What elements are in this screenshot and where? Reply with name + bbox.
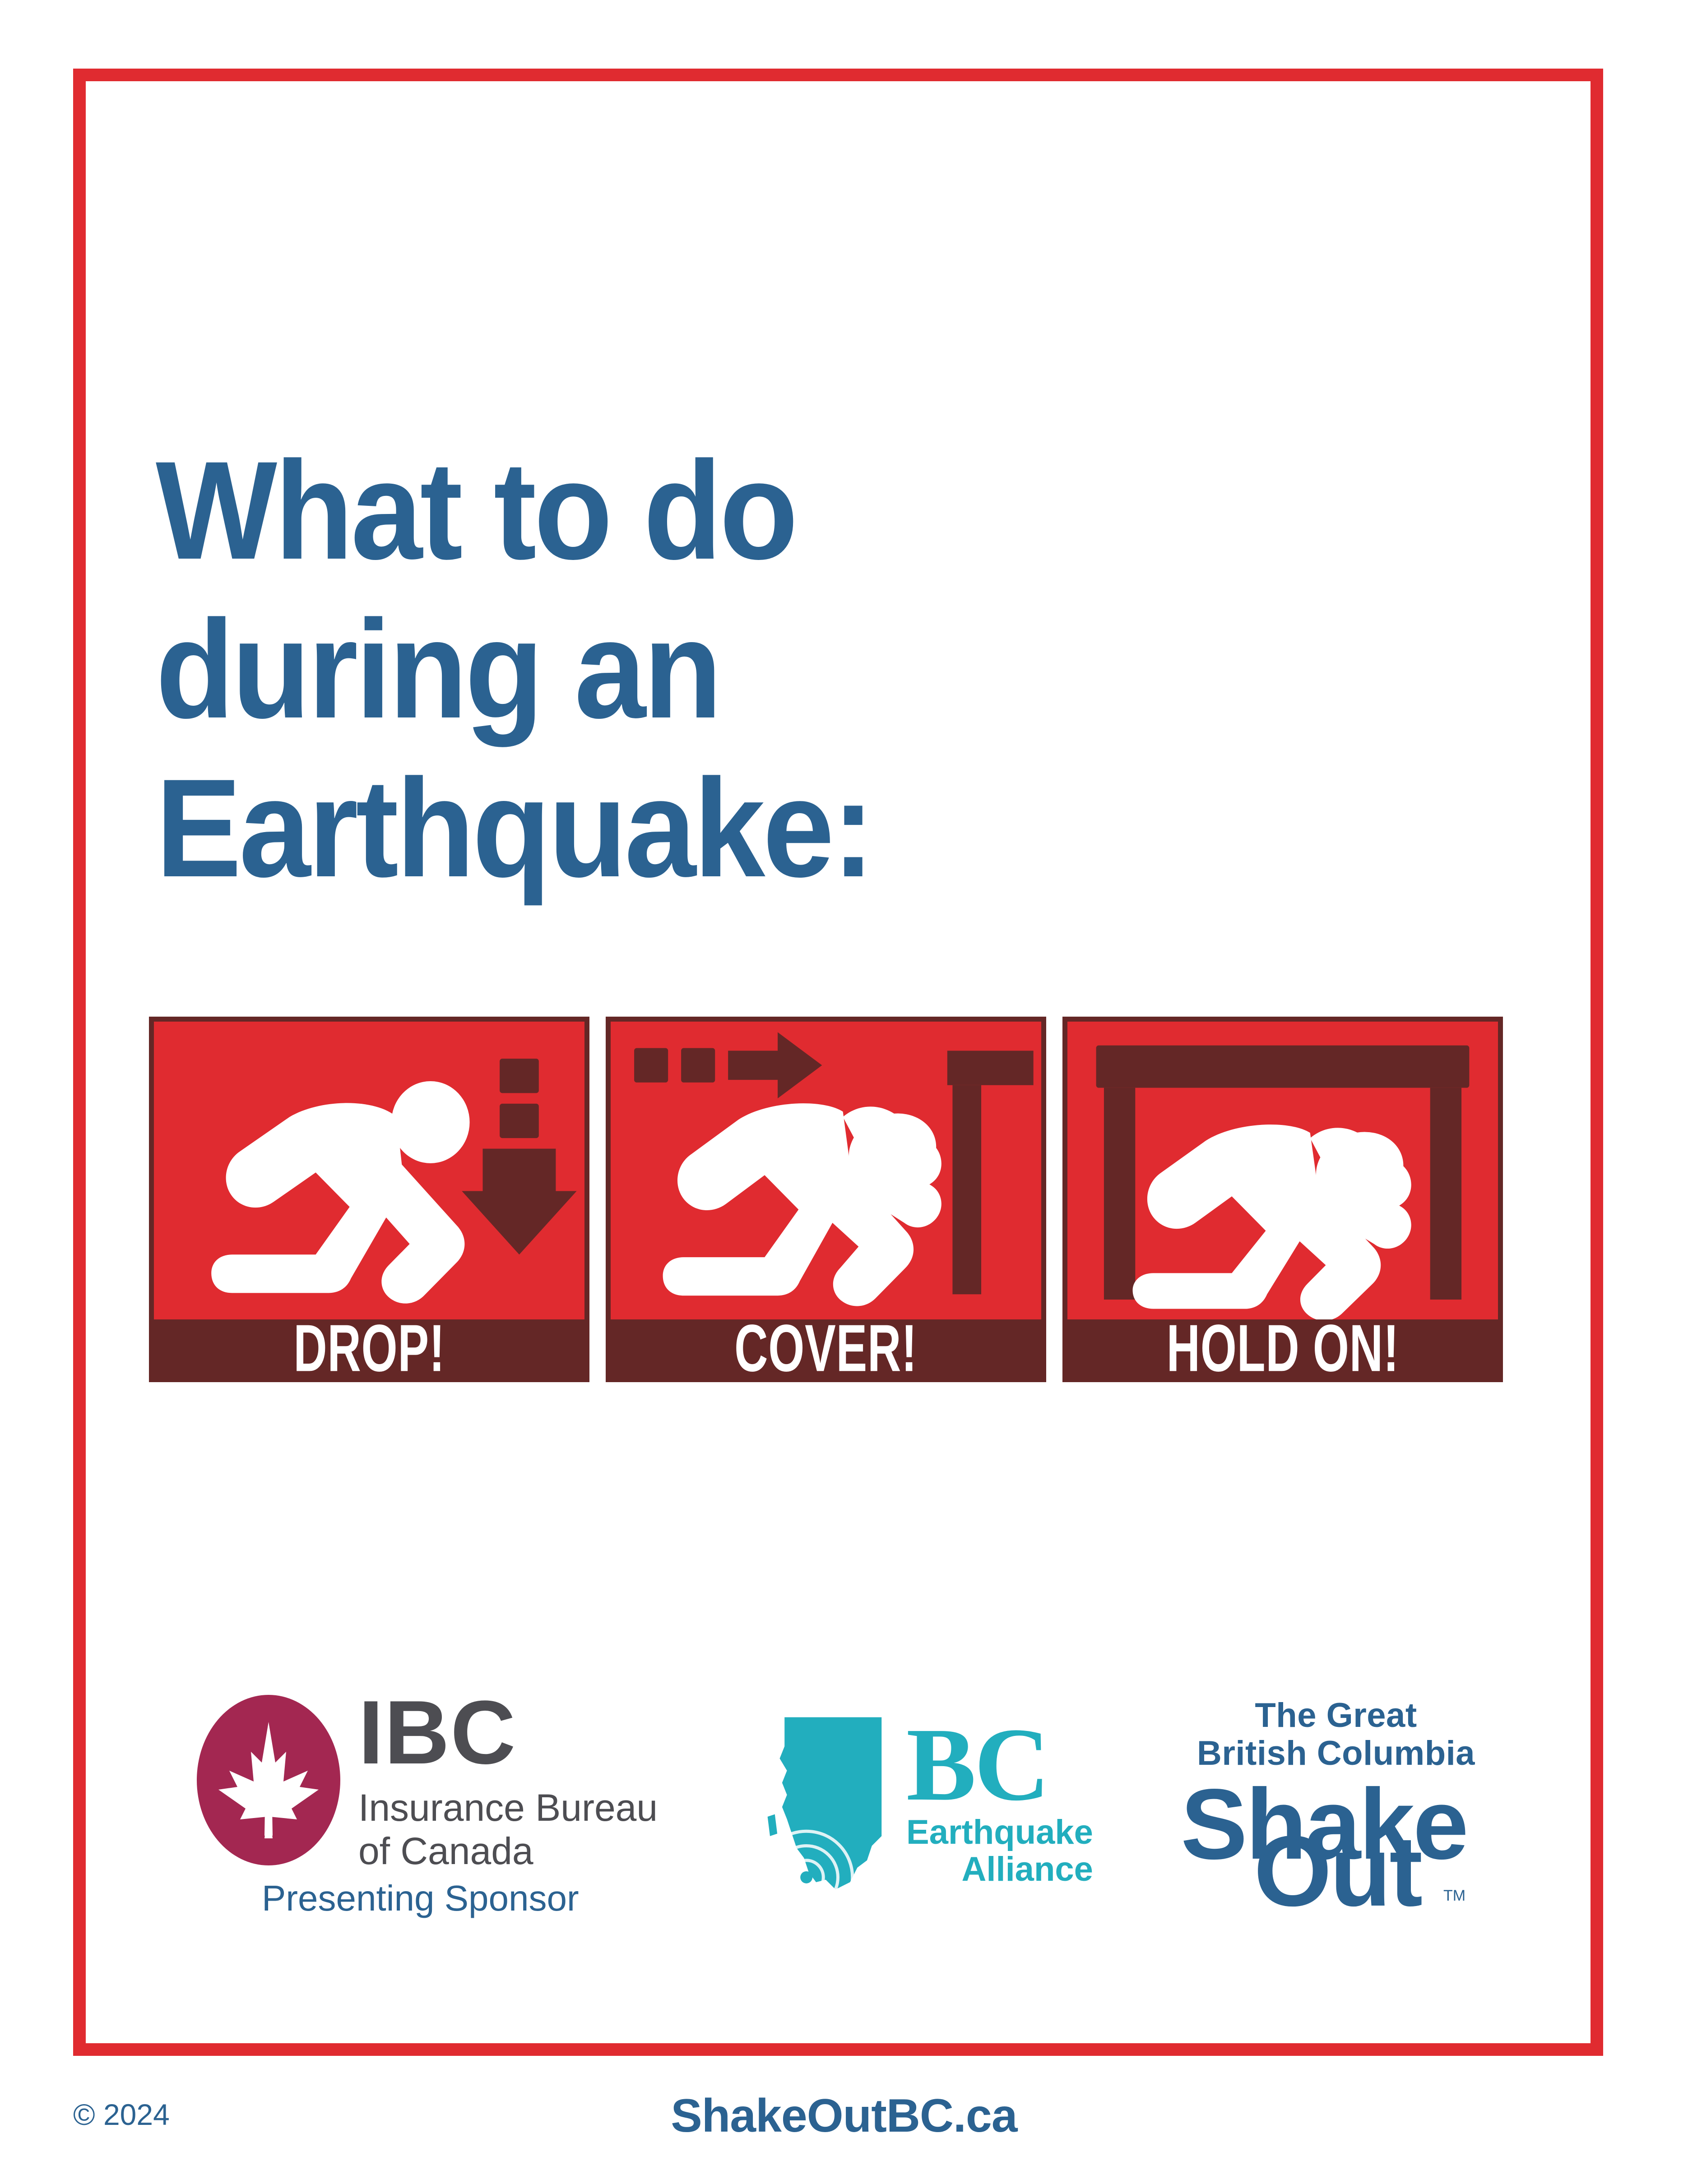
- bcea-initials: BC: [906, 1718, 1093, 1811]
- bc-map-seismic-icon: [754, 1700, 903, 1894]
- step-panel-hold-on: HOLD ON!: [1062, 1017, 1503, 1382]
- shakeout-logo: The Great British Columbia Shake Out TM: [1178, 1697, 1494, 1900]
- drop-illustration: [154, 1022, 584, 1319]
- right-arrow-icon: [634, 1032, 822, 1098]
- step-caption-drop: DROP!: [154, 1319, 584, 1377]
- person-covering-head-icon: [663, 1102, 946, 1306]
- page-title: What to do during an Earthquake:: [156, 431, 1277, 907]
- shakeout-tagline: The Great British Columbia: [1178, 1697, 1494, 1772]
- ibc-subtitle: Insurance Bureau of Canada: [358, 1786, 658, 1873]
- table-icon: [947, 1051, 1034, 1295]
- page-footer: © 2024 ShakeOutBC.ca: [0, 2097, 1688, 2156]
- shakeout-wordmark: Shake Out TM: [1178, 1774, 1494, 1901]
- maple-leaf-icon: [194, 1692, 343, 1868]
- trademark-symbol: TM: [1443, 1888, 1465, 1903]
- drop-cover-hold-panels: DROP!: [149, 1017, 1503, 1382]
- step-panel-cover: COVER!: [606, 1017, 1046, 1382]
- step-caption-hold-on: HOLD ON!: [1067, 1319, 1498, 1377]
- bcea-subtitle: Earthquake Alliance: [906, 1814, 1093, 1888]
- bc-earthquake-alliance-logo: BC Earthquake Alliance: [754, 1700, 1133, 1894]
- shakeout-word-out: Out: [1254, 1821, 1421, 1921]
- step-label-hold-on: HOLD ON!: [1166, 1319, 1399, 1377]
- step-label-drop: DROP!: [293, 1319, 445, 1377]
- person-kneeling-icon: [211, 1081, 469, 1304]
- step-label-cover: COVER!: [734, 1319, 917, 1377]
- ibc-initials: IBC: [358, 1688, 658, 1778]
- ibc-logo: IBC Insurance Bureau of Canada Presentin…: [194, 1692, 704, 1904]
- hold-on-illustration: [1067, 1022, 1498, 1319]
- down-arrow-icon: [462, 1059, 576, 1254]
- step-panel-drop: DROP!: [149, 1017, 589, 1382]
- cover-illustration: [611, 1022, 1041, 1319]
- step-caption-cover: COVER!: [611, 1319, 1041, 1377]
- sponsor-logos: IBC Insurance Bureau of Canada Presentin…: [149, 1688, 1503, 1940]
- presenting-sponsor-label: Presenting Sponsor: [262, 1879, 704, 1918]
- website-url[interactable]: ShakeOutBC.ca: [0, 2091, 1688, 2141]
- person-under-table-icon: [1133, 1121, 1414, 1319]
